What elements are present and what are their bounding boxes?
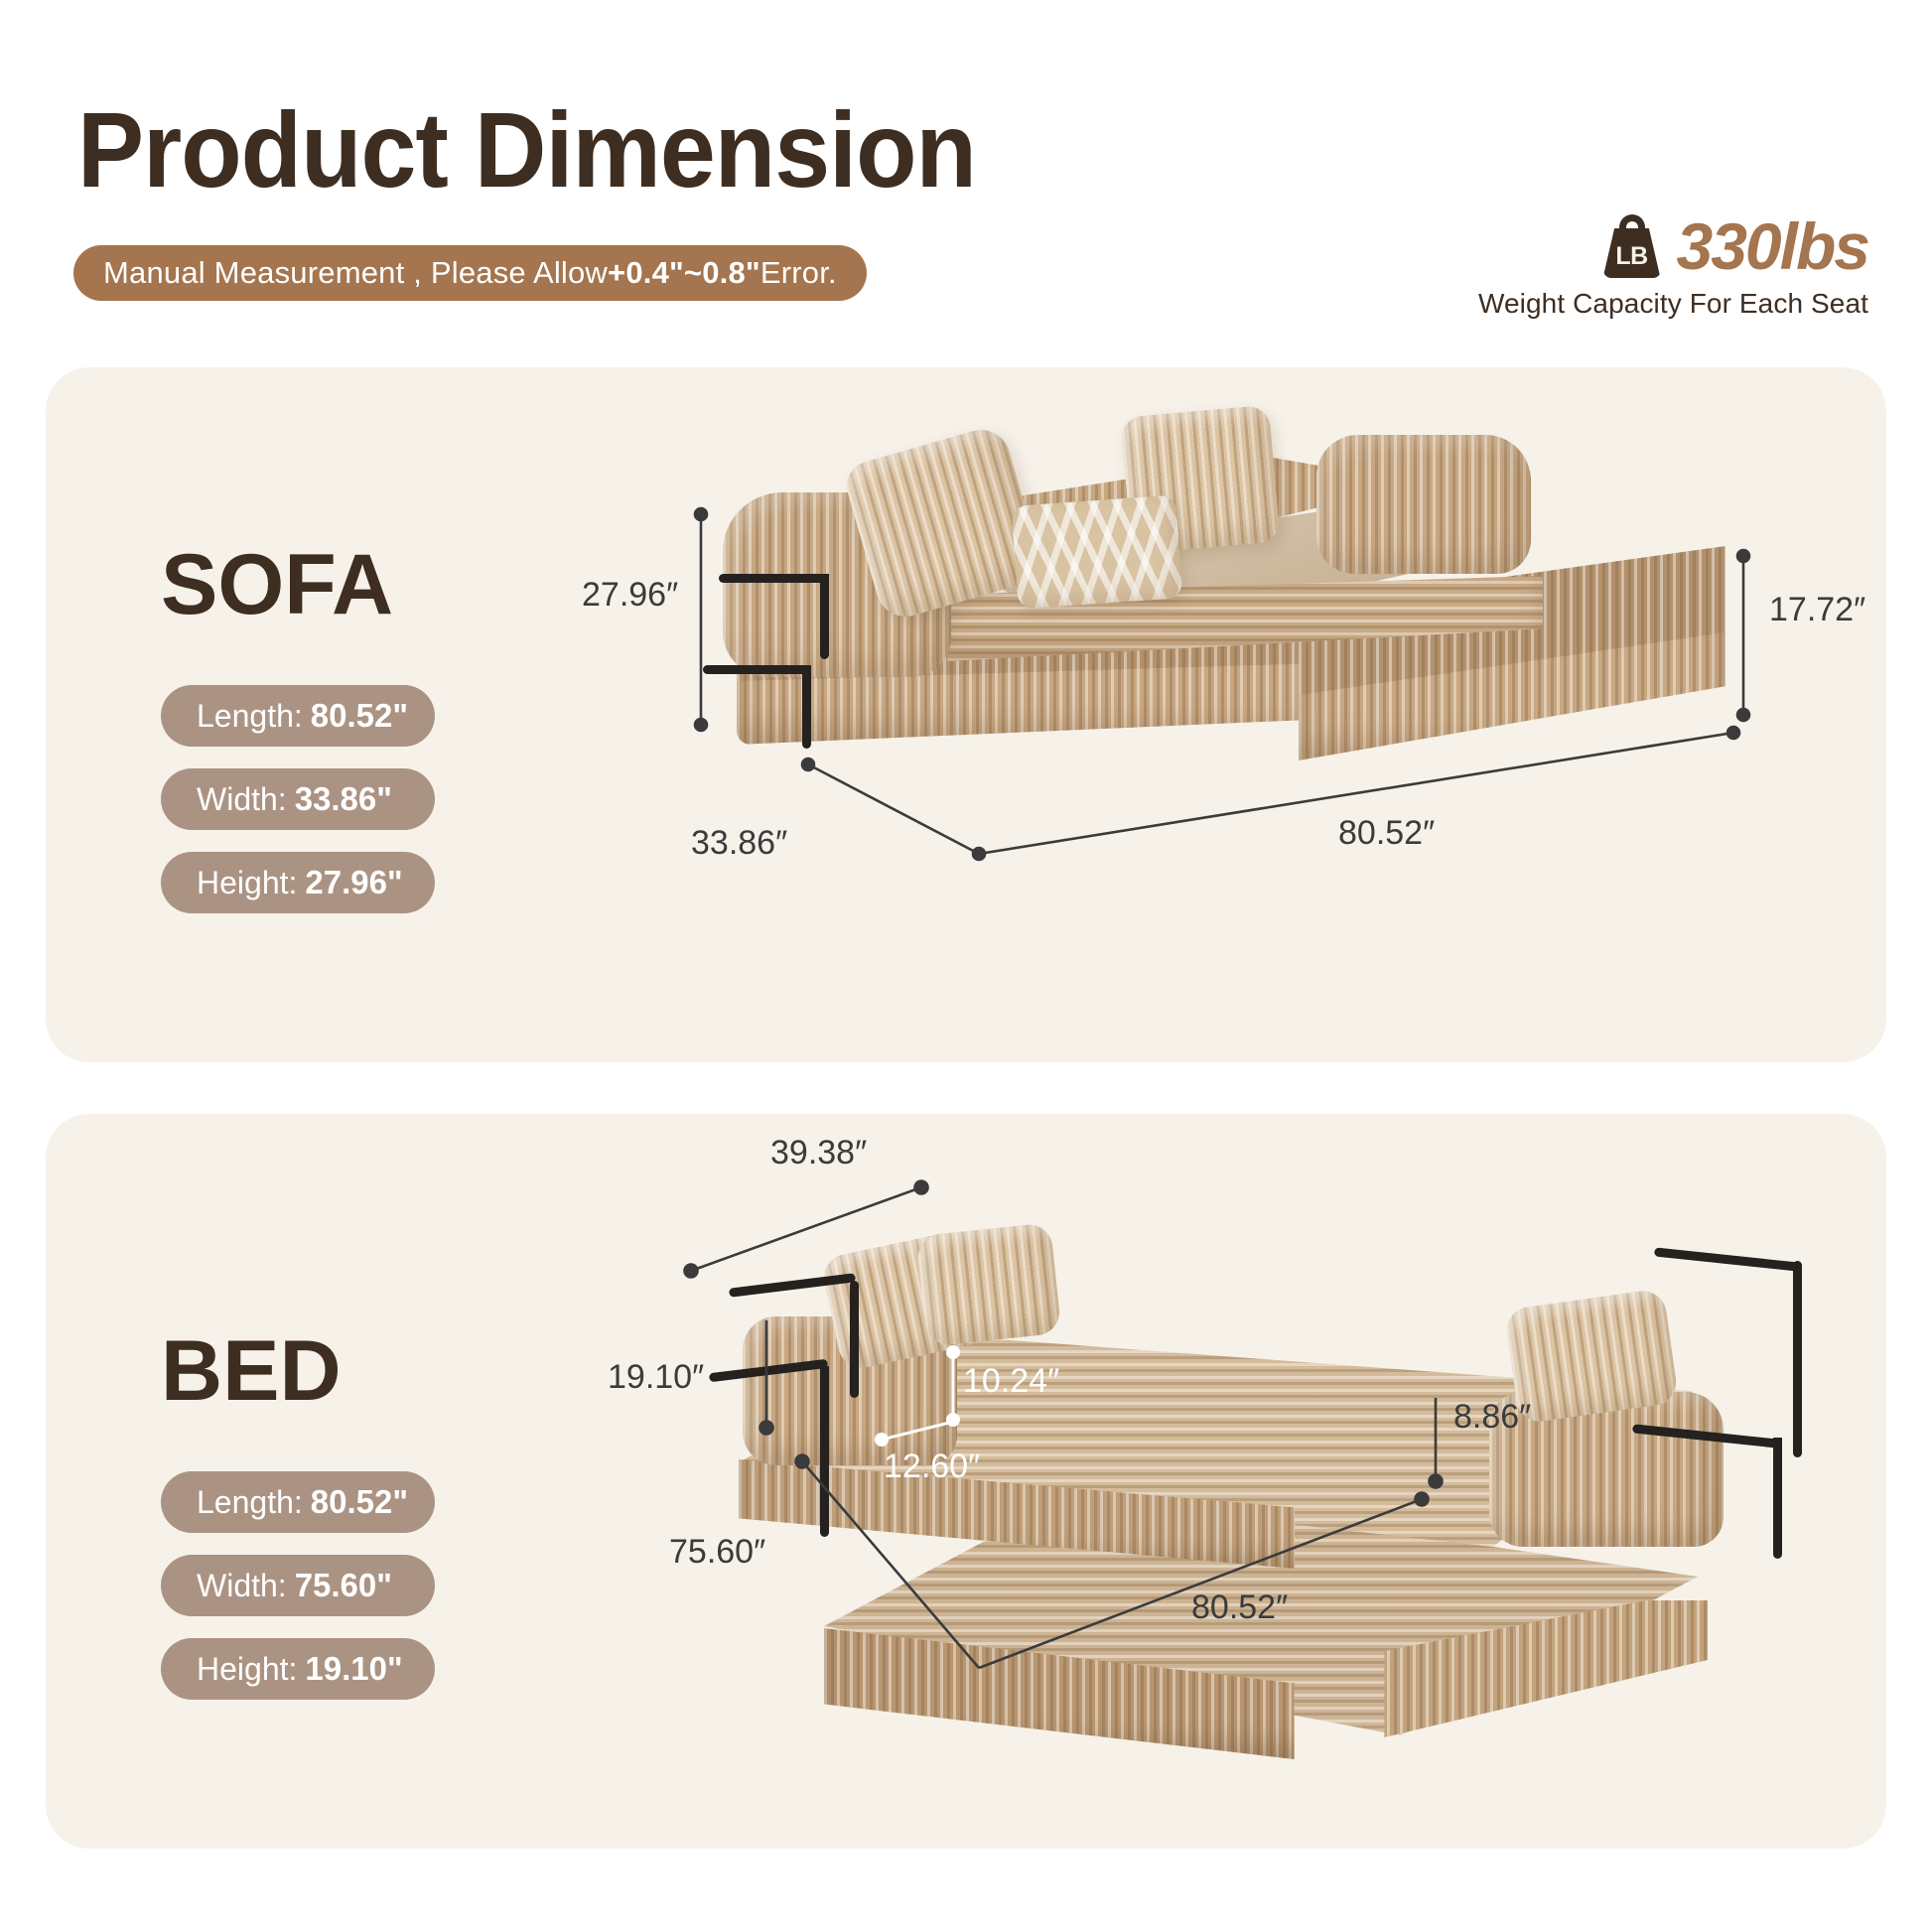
sofa-spec-height: Height: 27.96" — [161, 852, 435, 913]
sofa-illustration: 27.96″ 17.72″ 33.86″ 80.52″ — [685, 417, 1866, 1033]
bed-illustration: 39.38″ 19.10″ 10.24″ 12.60″ 8.86″ 75.60″… — [655, 1172, 1876, 1827]
bed-callout-armrest-height: 10.24″ — [963, 1362, 1059, 1401]
bed-callout-backrest: 39.38″ — [770, 1134, 867, 1173]
bed-callout-armrest-width: 12.60″ — [884, 1448, 980, 1486]
weight-badge-row: LB 330lbs — [1471, 208, 1868, 284]
bed-spec-height-value: 19.10" — [305, 1650, 402, 1688]
sofa-callout-length: 80.52″ — [1338, 814, 1435, 853]
sofa-dimension-lines — [685, 417, 1866, 1033]
sofa-spec-width-value: 33.86" — [295, 780, 392, 818]
bed-spec-height-label: Height: — [197, 1651, 297, 1688]
bed-callout-width: 75.60″ — [669, 1533, 765, 1572]
sofa-spec-length-value: 80.52" — [311, 697, 408, 735]
bed-callout-height-left: 19.10″ — [608, 1358, 704, 1397]
weight-icon-label: LB — [1601, 242, 1663, 271]
product-dimension-infographic: Product Dimension Manual Measurement , P… — [0, 0, 1932, 1932]
bed-dimension-lines — [655, 1172, 1876, 1827]
sofa-callout-depth: 33.86″ — [691, 824, 787, 863]
bed-callout-height-right: 8.86″ — [1453, 1398, 1531, 1437]
bed-spec-height: Height: 19.10" — [161, 1638, 435, 1700]
sofa-spec-width-label: Width: — [197, 781, 287, 818]
weight-icon: LB — [1601, 214, 1663, 278]
note-tolerance: +0.4"~0.8" — [608, 255, 760, 291]
sofa-spec-height-label: Height: — [197, 865, 297, 901]
bed-spec-length-value: 80.52" — [311, 1483, 408, 1521]
bed-spec-width-value: 75.60" — [295, 1567, 392, 1604]
page-title: Product Dimension — [77, 87, 976, 211]
sofa-callout-height-right: 17.72″ — [1769, 591, 1865, 629]
header: Product Dimension Manual Measurement , P… — [0, 0, 1932, 338]
bed-spec-length-label: Length: — [197, 1484, 303, 1521]
bed-section-title: BED — [161, 1322, 342, 1421]
bed-spec-width: Width: 75.60" — [161, 1555, 435, 1616]
sofa-section-title: SOFA — [161, 536, 393, 634]
weight-capacity-value: 330lbs — [1677, 213, 1868, 279]
note-prefix: Manual Measurement , Please Allow — [103, 255, 608, 291]
weight-capacity-badge: LB 330lbs Weight Capacity For Each Seat — [1471, 208, 1868, 328]
sofa-spec-length: Length: 80.52" — [161, 685, 435, 747]
weight-capacity-caption: Weight Capacity For Each Seat — [1471, 288, 1868, 320]
sofa-spec-width: Width: 33.86" — [161, 768, 435, 830]
sofa-spec-length-label: Length: — [197, 698, 303, 735]
bed-spec-width-label: Width: — [197, 1568, 287, 1604]
sofa-spec-height-value: 27.96" — [305, 864, 402, 901]
sofa-callout-height-left: 27.96″ — [582, 576, 678, 615]
bed-spec-length: Length: 80.52" — [161, 1471, 435, 1533]
note-suffix: Error. — [760, 255, 837, 291]
measurement-note-pill: Manual Measurement , Please Allow +0.4"~… — [73, 245, 867, 301]
bed-callout-length: 80.52″ — [1191, 1588, 1288, 1627]
